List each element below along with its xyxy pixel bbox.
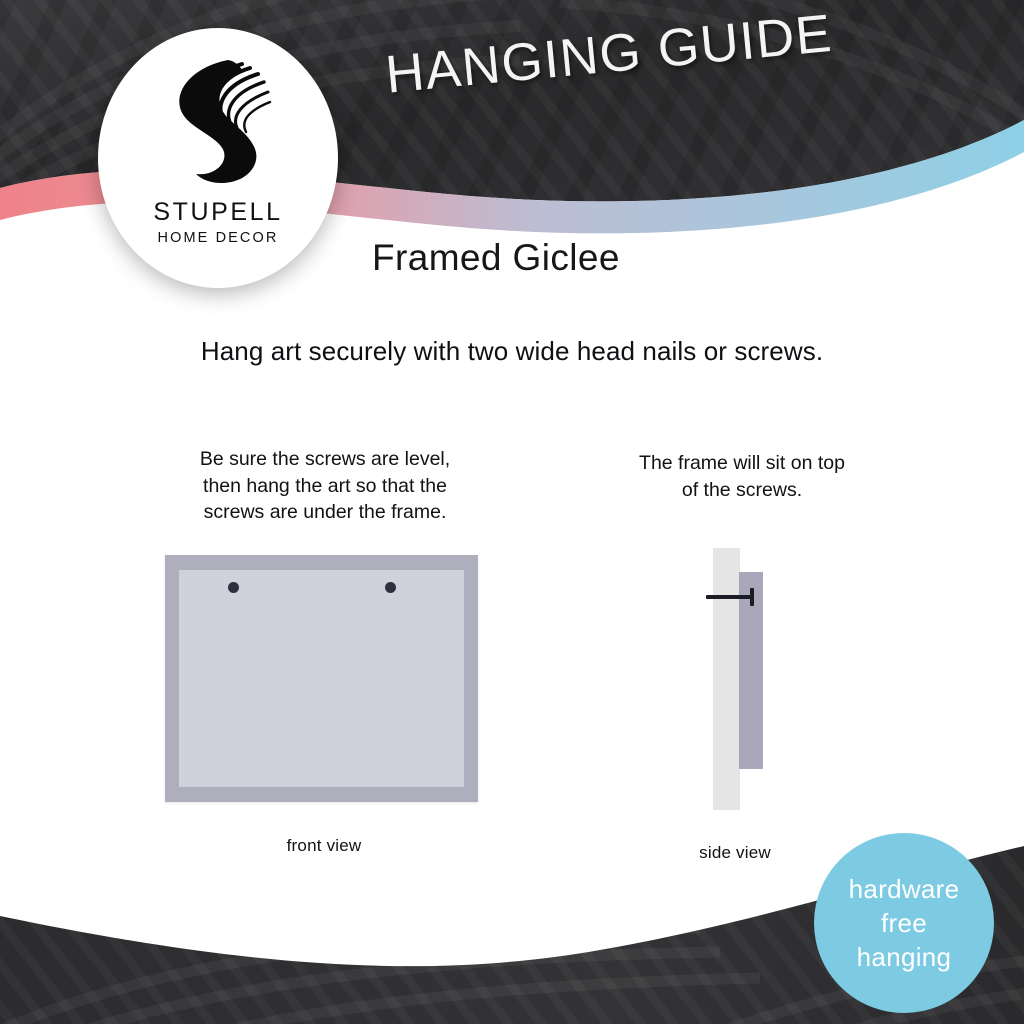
side-view-wall [713,548,740,810]
badge-line-3: hanging [857,940,952,974]
side-view-caption: The frame will sit on top of the screws. [592,450,892,503]
front-view-mat [179,570,464,787]
badge-line-1: hardware [849,872,960,906]
brand-name: STUPELL [153,198,282,227]
hanging-guide-canvas: STUPELL HOME DECOR HANGING GUIDE Framed … [0,0,1024,1024]
front-view-label: front view [180,836,468,856]
front-view-caption-line-2: then hang the art so that the [160,473,490,500]
brand-tagline: HOME DECOR [158,230,279,246]
side-view-screw-shaft [706,595,753,599]
front-view-caption-line-1: Be sure the screws are level, [160,446,490,473]
front-view-caption-line-3: screws are under the frame. [160,499,490,526]
side-view-screw-head [750,588,754,606]
badge-line-2: free [881,906,927,940]
side-view-caption-line-1: The frame will sit on top [592,450,892,477]
screw-dot-right [385,582,396,593]
front-view-caption: Be sure the screws are level, then hang … [160,446,490,526]
stupell-swirl-logo-icon [158,54,278,194]
side-view-diagram [700,540,810,820]
side-view-label: side view [630,843,840,863]
lead-instruction: Hang art securely with two wide head nai… [0,336,1024,367]
side-view-caption-line-2: of the screws. [592,477,892,504]
hardware-free-hanging-badge: hardware free hanging [814,833,994,1013]
screw-dot-left [228,582,239,593]
front-view-diagram [165,555,478,802]
brand-logo-badge: STUPELL HOME DECOR [98,28,338,288]
product-type-heading: Framed Giclee [372,237,620,279]
